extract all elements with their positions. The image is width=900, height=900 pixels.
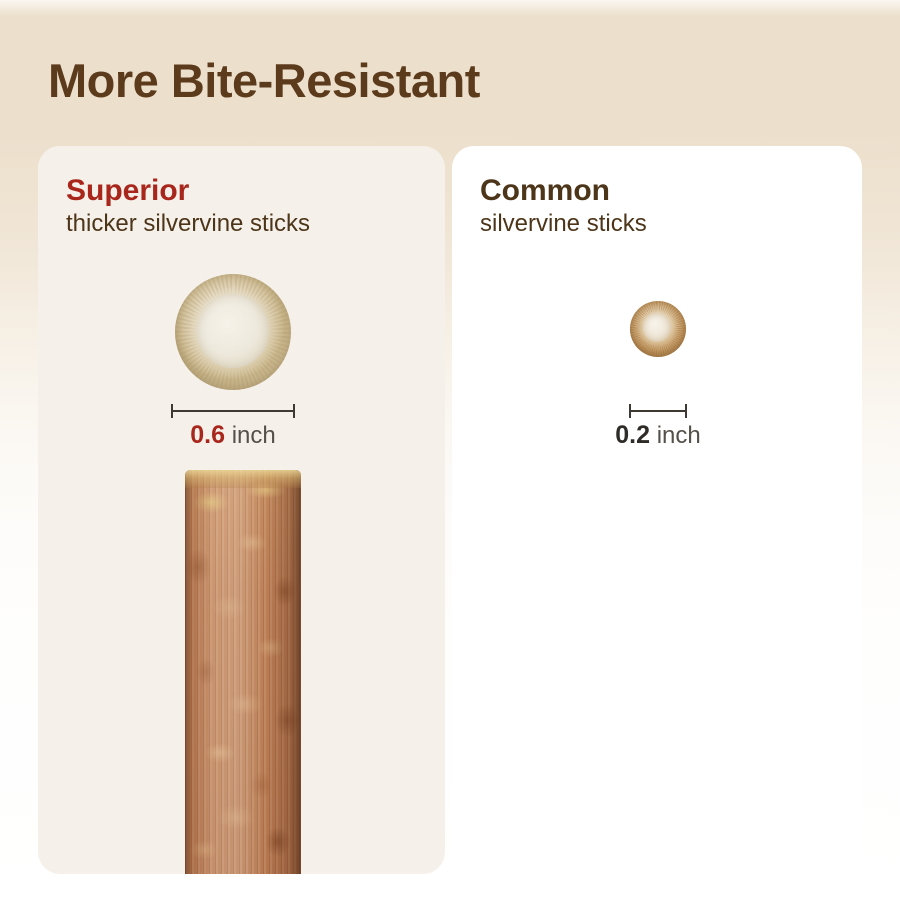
panel-subtitle-common: silvervine sticks [480, 210, 647, 239]
silvervine-stick-thick [185, 470, 301, 874]
panel-title-superior: Superior [66, 174, 310, 208]
panel-subtitle-superior: thicker silvervine sticks [66, 210, 310, 239]
measure-bar [629, 410, 687, 412]
stick-cross-section-thick [175, 274, 291, 390]
comparison-card-common: Common silvervine sticks 0.2 inch [452, 146, 862, 874]
comparison-card-superior: Superior thicker silvervine sticks 0.6 i… [38, 146, 445, 874]
measurement-rule-thick [171, 404, 295, 418]
panel-heading-common: Common silvervine sticks [480, 174, 647, 238]
panel-heading-superior: Superior thicker silvervine sticks [66, 174, 310, 238]
measurement-label-thick: 0.6 inch [171, 423, 295, 448]
stick-top-cut-thick [185, 470, 301, 488]
measurement-label-thin: 0.2 inch [613, 423, 703, 448]
measurement-value-thick: 0.6 [190, 421, 225, 449]
infographic-canvas: More Bite-Resistant Superior thicker sil… [0, 0, 900, 900]
measurement-value-thin: 0.2 [615, 421, 650, 449]
growth-rings-texture-thin [630, 301, 686, 357]
stick-cross-section-thin [630, 301, 686, 357]
measure-cap-right-icon [685, 404, 687, 418]
measure-cap-right-icon [293, 404, 295, 418]
measurement-unit-thin: inch [657, 422, 701, 449]
growth-rings-texture-thick [175, 274, 291, 390]
panel-title-common: Common [480, 174, 647, 208]
measurement-unit-thick: inch [232, 422, 276, 449]
measure-bar [171, 410, 295, 412]
page-title: More Bite-Resistant [48, 57, 480, 104]
measurement-rule-thin [629, 404, 687, 418]
